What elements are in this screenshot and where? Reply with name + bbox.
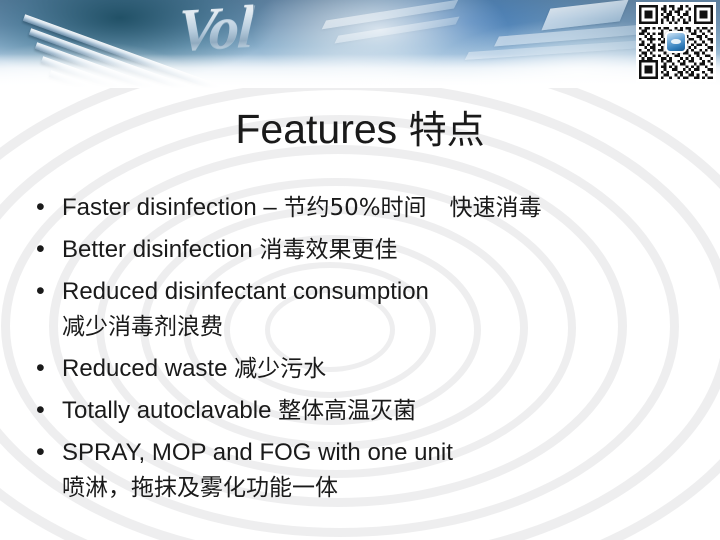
list-item-cjk: 节约50%时间 快速消毒 xyxy=(283,195,541,221)
qr-code[interactable] xyxy=(636,2,716,82)
list-item-cjk: 消毒效果更佳 xyxy=(259,237,397,263)
page-title-cjk: 特点 xyxy=(409,108,485,152)
page-title: Features 特点 xyxy=(0,104,720,155)
bullet-marker: • xyxy=(30,190,62,225)
list-item: • Better disinfection 消毒效果更佳 xyxy=(30,232,690,268)
list-item: • Faster disinfection – 节约50%时间 快速消毒 xyxy=(30,190,690,226)
slide-canvas: Vol xyxy=(0,0,720,540)
bullet-marker: • xyxy=(30,274,62,309)
list-item-subline: 喷淋，拖抹及雾化功能一体 xyxy=(62,471,690,506)
list-item-text: Reduced disinfectant consumption 减少消毒剂浪费 xyxy=(62,274,690,345)
feature-list: • Faster disinfection – 节约50%时间 快速消毒 • B… xyxy=(30,190,690,512)
header-banner: Vol xyxy=(0,0,720,88)
list-item-en: Reduced waste xyxy=(62,355,234,382)
list-item-en: Reduced disinfectant consumption xyxy=(62,278,429,305)
list-item-cjk: 整体高温灭菌 xyxy=(278,398,416,424)
list-item-text: Totally autoclavable 整体高温灭菌 xyxy=(62,393,690,429)
list-item-text: Reduced waste 减少污水 xyxy=(62,351,690,387)
bullet-marker: • xyxy=(30,351,62,386)
list-item: • Reduced disinfectant consumption 减少消毒剂… xyxy=(30,274,690,345)
list-item: • Totally autoclavable 整体高温灭菌 xyxy=(30,393,690,429)
list-item-subline: 减少消毒剂浪费 xyxy=(62,310,690,345)
banner-fade xyxy=(0,54,720,88)
page-title-en: Features xyxy=(235,106,397,152)
list-item: • SPRAY, MOP and FOG with one unit 喷淋，拖抹… xyxy=(30,435,690,506)
list-item-en: Faster disinfection – xyxy=(62,194,283,221)
list-item-text: Better disinfection 消毒效果更佳 xyxy=(62,232,690,268)
app-icon xyxy=(665,31,687,53)
bullet-marker: • xyxy=(30,435,62,470)
bullet-marker: • xyxy=(30,232,62,267)
bullet-marker: • xyxy=(30,393,62,428)
list-item-cjk: 减少污水 xyxy=(234,356,326,382)
list-item-en: Totally autoclavable xyxy=(62,397,278,424)
list-item-text: Faster disinfection – 节约50%时间 快速消毒 xyxy=(62,190,690,226)
list-item-en: Better disinfection xyxy=(62,236,259,263)
list-item-en: SPRAY, MOP and FOG with one unit xyxy=(62,439,453,466)
list-item: • Reduced waste 减少污水 xyxy=(30,351,690,387)
list-item-text: SPRAY, MOP and FOG with one unit 喷淋，拖抹及雾… xyxy=(62,435,690,506)
